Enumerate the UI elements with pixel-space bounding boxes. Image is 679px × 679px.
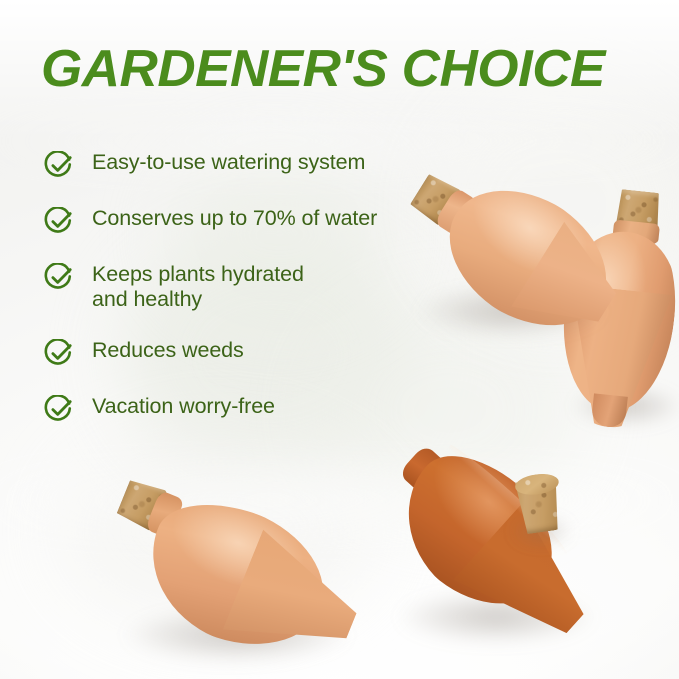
product-marketing-image: GARDENER'S CHOICE Easy-to-use watering s… bbox=[0, 0, 679, 679]
check-circle-icon bbox=[44, 207, 74, 237]
loose-cork-stopper bbox=[510, 472, 572, 542]
page-title: GARDENER'S CHOICE bbox=[41, 42, 605, 97]
list-item: Conserves up to 70% of water bbox=[44, 206, 444, 237]
list-item: Vacation worry-free bbox=[44, 394, 444, 425]
check-circle-icon bbox=[44, 263, 74, 293]
check-circle-icon bbox=[44, 151, 74, 181]
check-circle-icon bbox=[44, 395, 74, 425]
list-item-label: Keeps plants hydrated and healthy bbox=[92, 262, 304, 313]
watering-spike-lower-left bbox=[92, 495, 362, 670]
watering-spike-lower-right-dark bbox=[372, 452, 622, 652]
benefits-list: Easy-to-use watering system Conserves up… bbox=[44, 150, 444, 450]
list-item: Keeps plants hydrated and healthy bbox=[44, 262, 444, 313]
list-item-label: Vacation worry-free bbox=[92, 394, 275, 419]
list-item-label: Reduces weeds bbox=[92, 338, 244, 363]
list-item-label: Easy-to-use watering system bbox=[92, 150, 365, 175]
list-item-label: Conserves up to 70% of water bbox=[92, 206, 377, 231]
list-item: Reduces weeds bbox=[44, 338, 444, 369]
check-circle-icon bbox=[44, 339, 74, 369]
list-item: Easy-to-use watering system bbox=[44, 150, 444, 181]
